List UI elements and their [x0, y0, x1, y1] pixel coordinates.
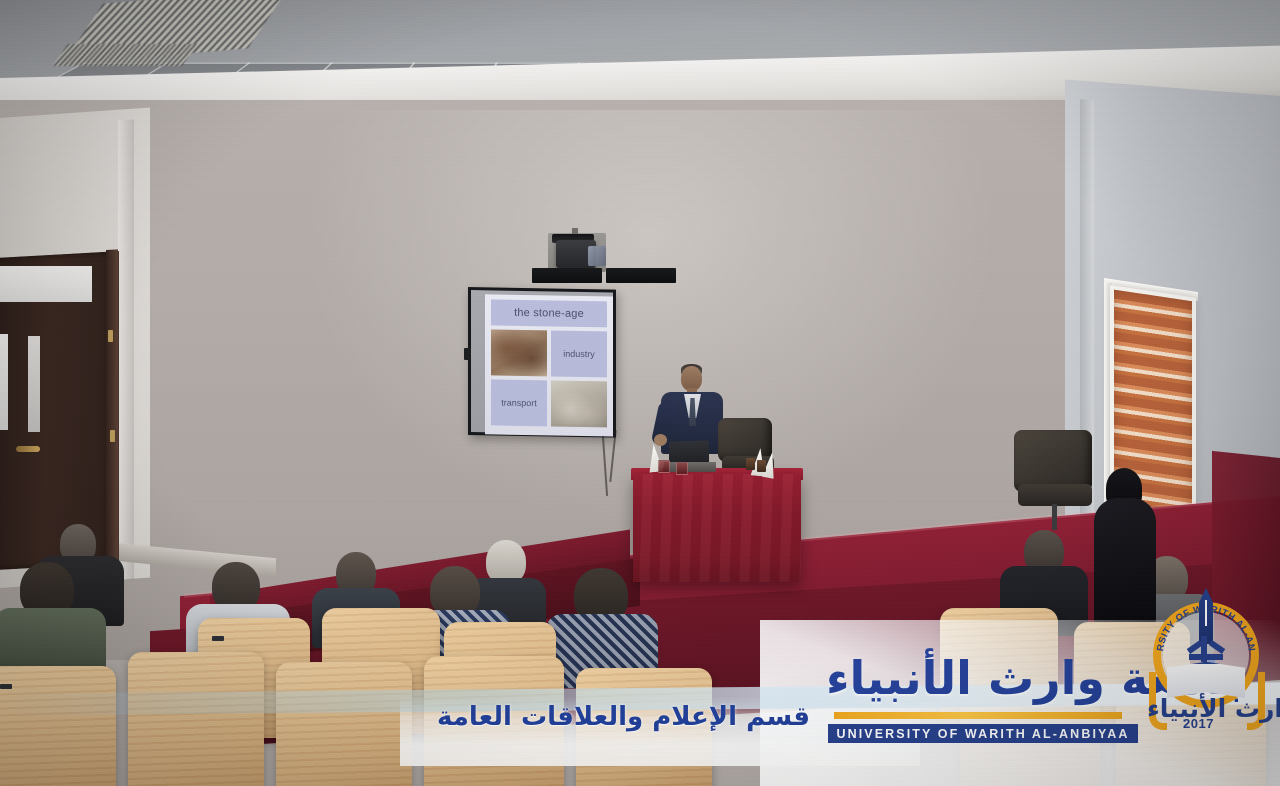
left-wall-corner: [118, 119, 134, 580]
coffee-cup-icon: [746, 458, 755, 470]
drinking-glass-icon: [658, 460, 670, 473]
auditorium-seat[interactable]: [128, 652, 264, 786]
board-surface: the stone-age industry transport: [471, 290, 613, 434]
slide-image-stone-tools: [491, 329, 547, 376]
door-glass-panel-left: [0, 334, 8, 430]
door-hinge-icon: [108, 330, 113, 342]
projection-whiteboard: the stone-age industry transport: [468, 287, 616, 438]
coffee-cup-icon: [757, 460, 766, 472]
university-name-underline: [834, 712, 1122, 719]
presenter-hand: [654, 434, 667, 446]
seat-label-tab: [212, 636, 224, 641]
door-frame: [106, 249, 118, 576]
wall-speaker-left: [532, 268, 602, 283]
office-chair-seat: [1018, 484, 1092, 506]
logo-founding-year: 2017: [1183, 716, 1214, 731]
logo-calligraphic-knot: [1187, 634, 1225, 664]
logo-pen-slit: [1205, 600, 1207, 626]
door-handle-icon[interactable]: [16, 446, 40, 452]
university-logo[interactable]: UNIVERSITY OF WARITH AL-ANBIYAA وارث الأ…: [1143, 588, 1271, 738]
slide-label-industry: industry: [551, 330, 607, 377]
door-hinge-icon: [110, 430, 115, 442]
wall-speaker-right: [606, 268, 676, 283]
office-chair-post: [1052, 504, 1057, 530]
presenter-table-draped: [633, 474, 801, 582]
seat-label-tab: [0, 684, 12, 689]
department-name-arabic: قسم الإعلام والعلاقات العامة: [437, 702, 810, 732]
university-name-english: UNIVERSITY OF WARITH AL-ANBIYAA: [828, 724, 1138, 743]
board-side-knob: [464, 348, 471, 360]
slide-title: the stone-age: [491, 299, 607, 327]
lecture-hall-photograph: the stone-age industry transport: [0, 0, 1280, 786]
slide-content-grid: industry transport: [491, 329, 607, 427]
office-chair-icon[interactable]: [1014, 430, 1092, 492]
auditorium-seat[interactable]: [0, 666, 116, 786]
door-transom-window: [0, 266, 92, 302]
slide-label-transport: transport: [491, 379, 547, 426]
auditorium-seat[interactable]: [276, 662, 412, 786]
projected-slide: the stone-age industry transport: [485, 294, 613, 436]
projector-lens-icon: [588, 246, 606, 266]
ceiling-air-vent-secondary: [52, 44, 198, 66]
door-glass-panel-right: [28, 336, 40, 432]
laptop-keyboard-base: [664, 462, 716, 472]
slide-image-stone-cart: [551, 380, 607, 427]
drinking-glass-icon: [676, 462, 688, 475]
wall-light-reflection: [300, 110, 1000, 530]
